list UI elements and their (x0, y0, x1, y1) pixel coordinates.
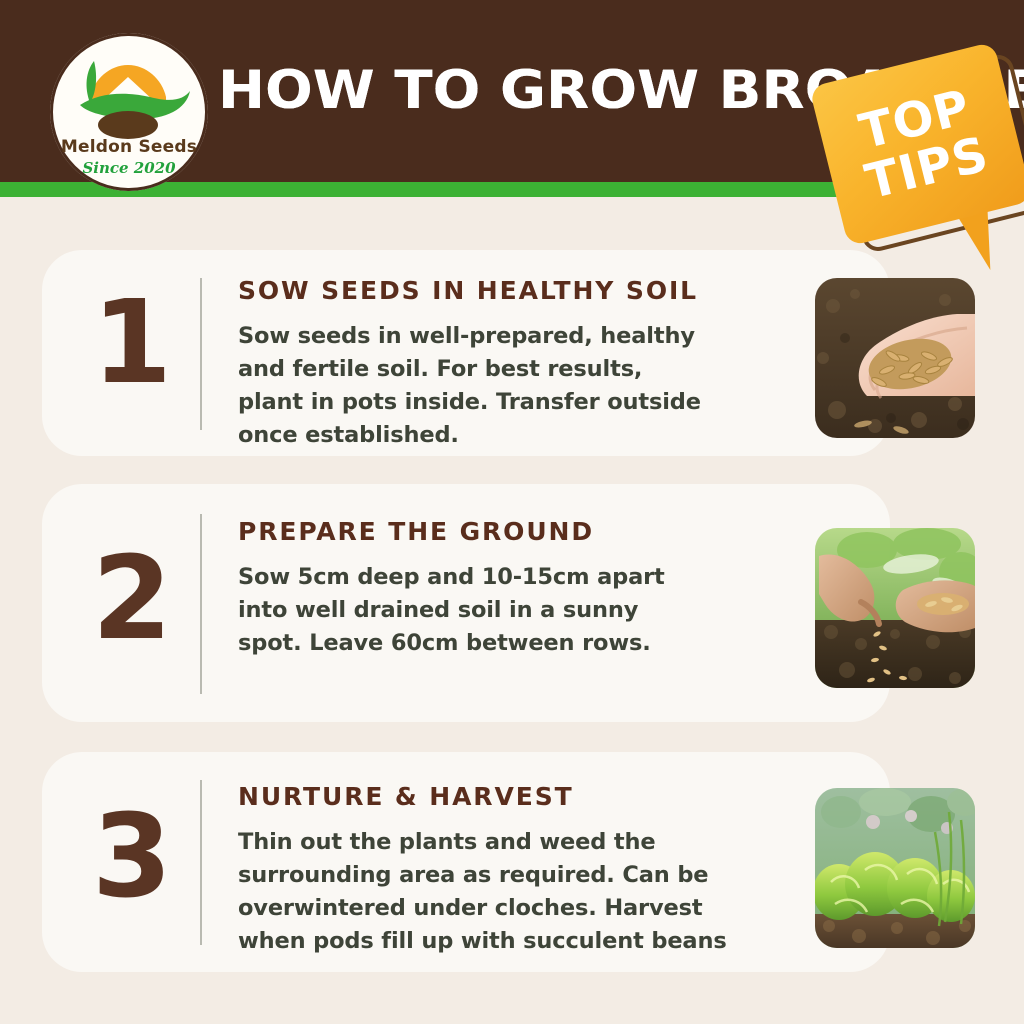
logo-brand-name: Meldon Seeds (50, 137, 208, 157)
vertical-divider (200, 780, 202, 945)
infographic-poster: HOW TO GROW BROAD BEANS Meldon Seeds Sin… (0, 0, 1024, 1024)
step-number: 2 (72, 542, 192, 657)
brand-logo[interactable]: Meldon Seeds Since 2020 (50, 33, 208, 191)
step-description: Sow 5cm deep and 10-15cm apart into well… (238, 561, 708, 660)
step-photo (815, 788, 975, 948)
logo-since-text: Since 2020 (50, 159, 208, 177)
step-description: Thin out the plants and weed the surroun… (238, 826, 728, 958)
step-card[interactable]: 2 PREPARE THE GROUND Sow 5cm deep and 10… (42, 484, 890, 722)
step-content: NURTURE & HARVEST Thin out the plants an… (238, 782, 728, 958)
vertical-divider (200, 278, 202, 430)
step-card[interactable]: 3 NURTURE & HARVEST Thin out the plants … (42, 752, 890, 972)
step-number: 3 (72, 800, 192, 915)
green-leafy-plants-in-garden-row-image (815, 788, 975, 948)
step-content: PREPARE THE GROUND Sow 5cm deep and 10-1… (238, 517, 708, 660)
vertical-divider (200, 514, 202, 694)
step-heading: PREPARE THE GROUND (238, 517, 708, 547)
farmhouse-leaf-icon (50, 47, 208, 139)
step-heading: NURTURE & HARVEST (238, 782, 728, 812)
step-photo (815, 528, 975, 688)
step-content: SOW SEEDS IN HEALTHY SOIL Sow seeds in w… (238, 276, 708, 452)
step-number: 1 (72, 286, 192, 401)
step-heading: SOW SEEDS IN HEALTHY SOIL (238, 276, 708, 306)
step-photo (815, 278, 975, 438)
hands-sowing-seeds-into-soil-image (815, 528, 975, 688)
hand-holding-seeds-over-soil-image (815, 278, 975, 438)
step-description: Sow seeds in well-prepared, healthy and … (238, 320, 708, 452)
step-card[interactable]: 1 SOW SEEDS IN HEALTHY SOIL Sow seeds in… (42, 250, 890, 456)
top-tips-badge[interactable]: TOP TIPS (820, 52, 1024, 302)
